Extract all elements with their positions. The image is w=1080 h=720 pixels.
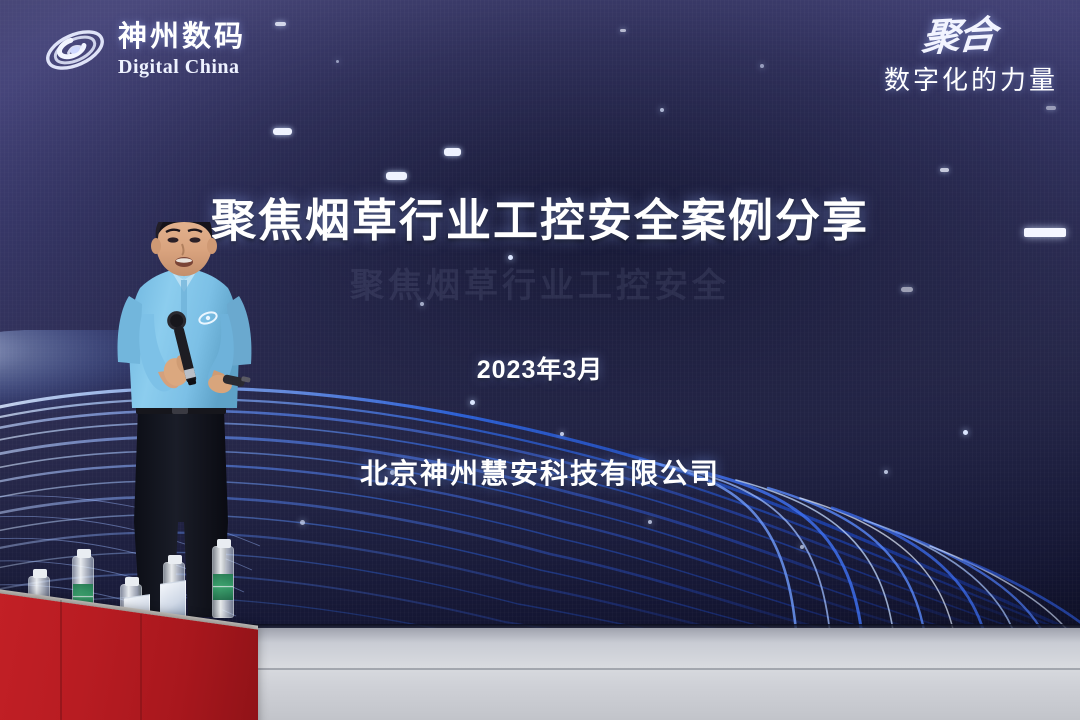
particle-spark: [648, 520, 652, 524]
digital-china-swirl-icon: [44, 22, 106, 78]
tablecloth-fold: [60, 600, 62, 720]
water-bottle: [212, 546, 234, 618]
digital-china-logo: 神州数码 Digital China: [44, 22, 246, 78]
bottle-cap: [125, 577, 139, 586]
logo-english-name: Digital China: [118, 57, 246, 77]
digital-china-wordmark: 神州数码 Digital China: [118, 23, 246, 77]
bottle-cap: [217, 539, 231, 548]
particle-dash: [444, 148, 461, 156]
particle-spark: [760, 64, 764, 68]
logo-chinese-name: 神州数码: [118, 23, 246, 52]
particle-spark: [660, 108, 664, 112]
bottle-label: [213, 574, 233, 600]
particle-dash: [273, 128, 292, 135]
particle-spark: [560, 432, 564, 436]
particle-dash: [901, 287, 913, 292]
particle-spark: [963, 430, 968, 435]
bottle-cap: [77, 549, 91, 558]
particle-spark: [420, 302, 424, 306]
brand-calligraphy: 聚合: [882, 17, 996, 59]
particle-spark: [508, 255, 513, 260]
particle-dash: [620, 29, 626, 32]
conference-photo-scene: 聚焦烟草行业工控安全 神州数码 Digital China: [0, 0, 1080, 720]
particle-spark: [800, 545, 804, 549]
particle-spark: [300, 520, 305, 525]
particle-spark: [470, 400, 475, 405]
particle-spark: [336, 60, 339, 63]
brand-tagline: 数字化的力量: [884, 60, 1058, 97]
bottle-cap: [33, 569, 47, 578]
presenter-figure: [96, 222, 276, 632]
tablecloth-fold: [140, 614, 142, 720]
particle-dash: [1046, 106, 1056, 110]
particle-dash: [386, 172, 407, 180]
particle-dash: [940, 168, 949, 172]
particle-dash: [275, 22, 286, 26]
event-brand-logo: 聚合 数字化的力量: [884, 20, 1058, 97]
bottle-cap: [168, 555, 182, 564]
